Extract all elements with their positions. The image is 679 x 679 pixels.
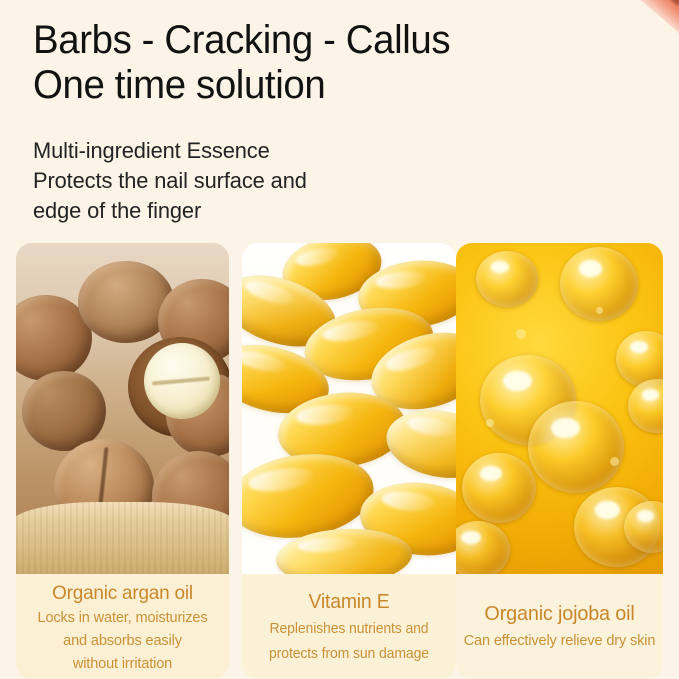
card-title: Organic jojoba oil — [459, 601, 660, 627]
ingredient-card-vitamin-e: Vitamin E Replenishes nutrients and prot… — [242, 243, 456, 679]
oil-bubble — [462, 453, 536, 523]
pen-barrel — [568, 0, 679, 47]
card-body-line: without irritation — [19, 653, 226, 674]
oil-speck — [486, 419, 494, 427]
pen-label-text-line — [612, 0, 679, 13]
card-title: Vitamin E — [245, 590, 453, 615]
product-infographic: Barbs - Cracking - Callus One time solut… — [0, 0, 679, 679]
argan-oil-caption: Organic argan oil Locks in water, moistu… — [16, 574, 229, 679]
oil-speck — [610, 457, 619, 466]
card-body-line: protects from sun damage — [245, 644, 453, 665]
oil-speck — [596, 307, 603, 314]
macadamia-nuts-image — [16, 243, 229, 574]
oil-bubble — [628, 379, 663, 433]
ingredient-card-argan-oil: Organic argan oil Locks in water, moistu… — [16, 243, 229, 679]
ingredient-card-jojoba-oil: Organic jojoba oil Can effectively relie… — [456, 243, 663, 679]
card-body-line: and absorbs easily — [19, 630, 226, 651]
product-pen-image — [378, 0, 679, 218]
argan-oil-photo — [16, 243, 229, 574]
oil-bubble — [476, 251, 538, 307]
oil-speck — [516, 329, 526, 339]
pen-label-text-line — [605, 0, 679, 6]
pen-label — [594, 0, 679, 34]
jojoba-oil-photo — [456, 243, 663, 574]
card-body-line: Replenishes nutrients and — [245, 619, 453, 640]
oil-bubble — [456, 521, 510, 574]
golden-oil-image — [456, 243, 663, 574]
softgel-capsules-image — [242, 243, 456, 574]
pen-illustration — [465, 0, 679, 50]
card-body-line: Locks in water, moisturizes — [19, 607, 226, 628]
vitamin-e-caption: Vitamin E Replenishes nutrients and prot… — [242, 574, 456, 679]
oil-bubble — [528, 401, 624, 493]
wooden-bowl — [16, 502, 229, 574]
jojoba-oil-caption: Organic jojoba oil Can effectively relie… — [456, 574, 663, 679]
header-section: Barbs - Cracking - Callus One time solut… — [0, 0, 679, 243]
card-title: Organic argan oil — [19, 581, 226, 605]
ingredient-cards-row: Organic argan oil Locks in water, moistu… — [0, 243, 679, 679]
vitamin-e-photo — [242, 243, 456, 574]
card-body-line: Can effectively relieve dry skin — [459, 630, 660, 651]
